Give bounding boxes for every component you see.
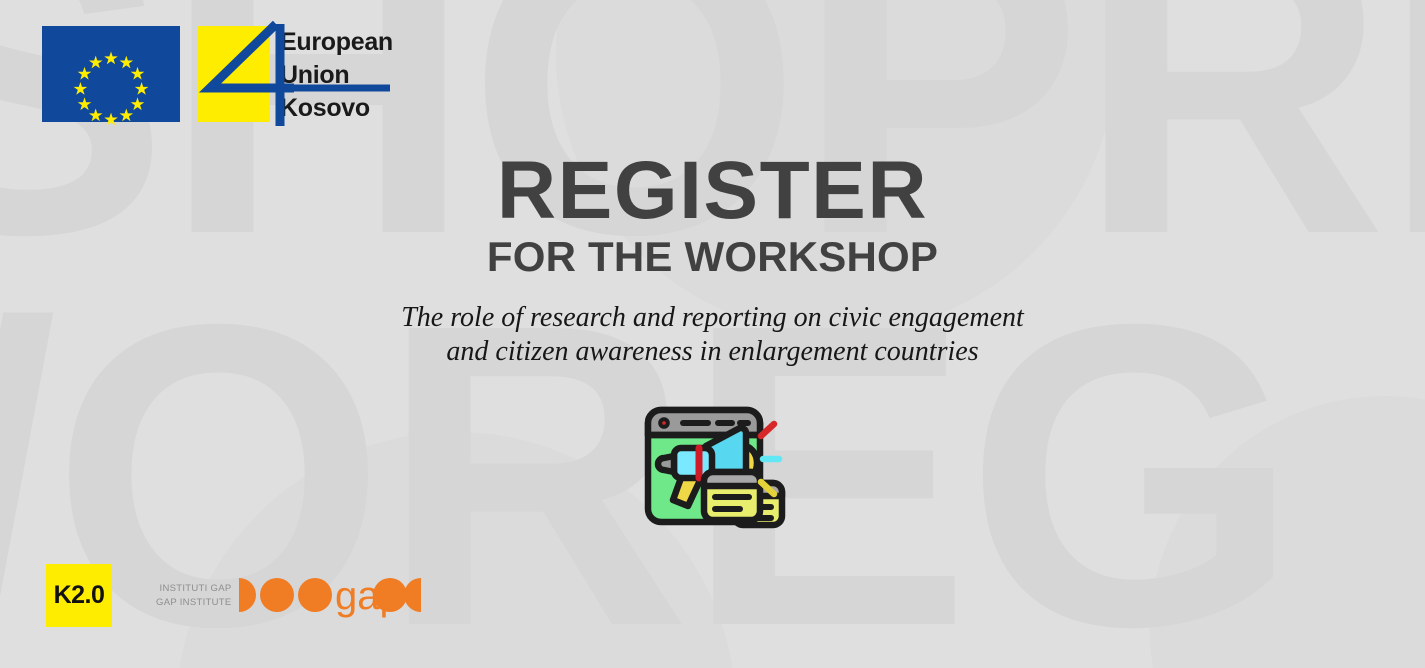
page-title: REGISTER [0,152,1425,231]
tagline-line-1: The role of research and reporting on ci… [0,301,1425,335]
partner-logos: K2.0 INSTITUTI GAP GAP INSTITUTE gap [46,564,421,627]
eu-kosovo-logo-lockup: European Union Kosovo [42,26,393,125]
gap-name-english: GAP INSTITUTE [156,596,232,610]
gap-institute-wordmark: INSTITUTI GAP GAP INSTITUTE [156,582,232,610]
megaphone-announcement-icon [640,404,790,564]
k20-logo-label: K2.0 [54,581,105,610]
eu-stars-circle [42,26,180,122]
gap-name-albanian: INSTITUTI GAP [156,582,232,596]
gap-institute-logo: INSTITUTI GAP GAP INSTITUTE gap [156,573,421,619]
gap-dots-mark-icon: gap [239,573,421,619]
svg-text:gap: gap [335,574,402,618]
numeral-four-glyph [198,26,398,126]
megaphone-illustration-svg [640,404,790,564]
tagline-line-2: and citizen awareness in enlargement cou… [0,335,1425,369]
page-subtitle: FOR THE WORKSHOP [0,235,1425,279]
watermark-circle [1150,396,1425,668]
k20-logo: K2.0 [46,564,112,627]
poster-canvas: SHOPREG /OREG [0,0,1425,668]
tagline: The role of research and reporting on ci… [0,301,1425,369]
european-union-flag-icon [42,26,180,122]
headings-block: REGISTER FOR THE WORKSHOP The role of re… [0,152,1425,369]
eu4-kosovo-badge-icon [198,26,270,122]
